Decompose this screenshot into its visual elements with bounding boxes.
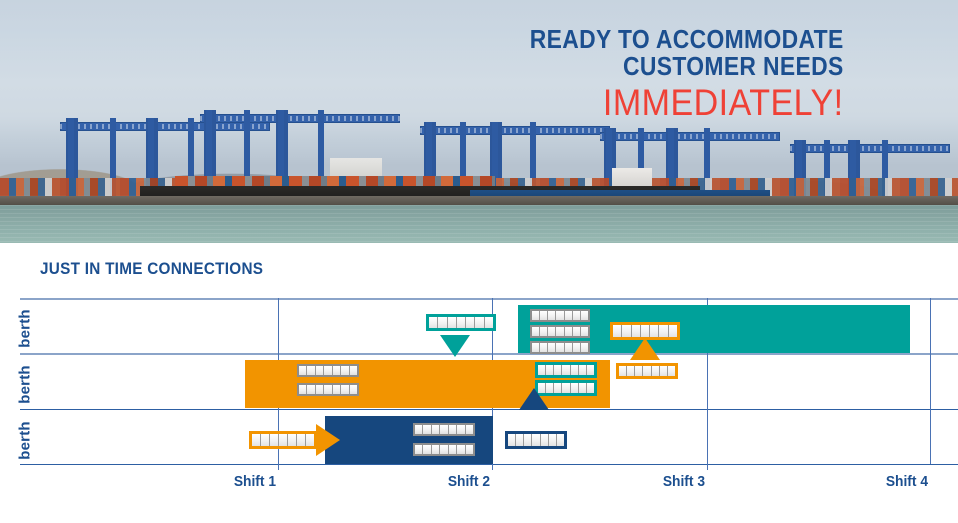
headline-line-1: READY TO ACCOMMODATE xyxy=(530,26,844,53)
orange-outbound-container-icon[interactable] xyxy=(616,363,678,379)
teal-transfer-container-icon-1[interactable] xyxy=(535,362,597,378)
navy-up-arrow-icon xyxy=(519,388,549,410)
orange-right-arrow-icon xyxy=(316,424,340,456)
row-label-berth-3: berth xyxy=(17,411,34,471)
just-in-time-connections-chart: JUST IN TIME CONNECTIONS berth berth ber… xyxy=(0,243,958,523)
gridline-shift-4 xyxy=(930,298,931,464)
teal-container-icon-row-2[interactable] xyxy=(530,325,590,338)
orange-container-icon-row-1[interactable] xyxy=(297,364,359,377)
axis-label-shift-2: Shift 2 xyxy=(409,473,490,490)
gridline-horizontal-bottom xyxy=(20,464,958,465)
teal-container-icon-row-3[interactable] xyxy=(530,341,590,354)
headline-line-2: CUSTOMER NEEDS xyxy=(530,53,844,80)
gridline-horizontal-top xyxy=(20,298,958,300)
inbound-teal-container-icon[interactable] xyxy=(426,314,496,331)
hero-headline: READY TO ACCOMMODATE CUSTOMER NEEDS IMME… xyxy=(487,26,844,123)
teal-container-icon-row-1[interactable] xyxy=(530,309,590,322)
navy-outbound-container-icon[interactable] xyxy=(505,431,567,449)
chart-title: JUST IN TIME CONNECTIONS xyxy=(40,259,263,279)
orange-up-arrow-icon xyxy=(630,338,660,360)
row-label-berth-2: berth xyxy=(17,355,34,415)
headline-line-3: IMMEDIATELY! xyxy=(516,84,844,122)
orange-container-icon-row-2[interactable] xyxy=(297,383,359,396)
navy-container-icon-row-2[interactable] xyxy=(413,443,475,456)
harbour-water xyxy=(0,205,958,243)
chart-plot-area: berth berth berth xyxy=(0,298,958,470)
axis-label-shift-4: Shift 4 xyxy=(847,473,928,490)
hero-banner: READY TO ACCOMMODATE CUSTOMER NEEDS IMME… xyxy=(0,0,958,243)
orange-inbound-container-icon[interactable] xyxy=(249,431,317,449)
row-label-berth-1: berth xyxy=(17,299,34,359)
teal-down-arrow-icon xyxy=(440,335,470,357)
gridline-horizontal-row2 xyxy=(20,409,958,410)
navy-container-icon-row-1[interactable] xyxy=(413,423,475,436)
gridline-horizontal-row1 xyxy=(20,353,958,355)
axis-label-shift-3: Shift 3 xyxy=(624,473,705,490)
axis-label-shift-1: Shift 1 xyxy=(195,473,276,490)
